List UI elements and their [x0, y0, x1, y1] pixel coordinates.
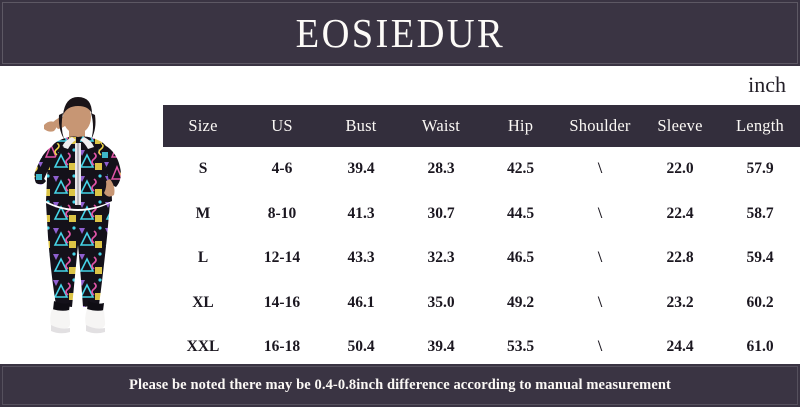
column-header-bust: Bust: [321, 105, 401, 147]
cell-sleeve: 22.0: [640, 147, 720, 192]
measurement-note-banner: Please be noted there may be 0.4-0.8inch…: [0, 362, 800, 407]
column-header-length: Length: [720, 105, 800, 147]
cell-size: XL: [163, 281, 243, 326]
cell-sleeve: 23.2: [640, 281, 720, 326]
cell-waist: 30.7: [401, 192, 481, 237]
cell-shoulder: \: [560, 236, 640, 281]
cell-sleeve: 22.8: [640, 236, 720, 281]
cell-waist: 35.0: [401, 281, 481, 326]
cell-size: M: [163, 192, 243, 237]
cell-shoulder: \: [560, 192, 640, 237]
column-header-hip: Hip: [481, 105, 560, 147]
cell-shoulder: \: [560, 281, 640, 326]
cell-us: 4-6: [243, 147, 321, 192]
measurement-note-text: Please be noted there may be 0.4-0.8inch…: [129, 377, 671, 394]
size-chart-page: EOSIEDUR inch: [0, 0, 800, 407]
table-row: S 4-6 39.4 28.3 42.5 \ 22.0 57.9: [163, 147, 800, 192]
cell-length: 59.4: [720, 236, 800, 281]
column-header-waist: Waist: [401, 105, 481, 147]
product-photo: [0, 95, 160, 345]
brand-banner: EOSIEDUR: [0, 0, 800, 68]
cell-waist: 32.3: [401, 236, 481, 281]
table-row: M 8-10 41.3 30.7 44.5 \ 22.4 58.7: [163, 192, 800, 237]
cell-length: 58.7: [720, 192, 800, 237]
table-header: Size US Bust Waist Hip Shoulder Sleeve L…: [163, 105, 800, 147]
cell-hip: 49.2: [481, 281, 560, 326]
cell-bust: 41.3: [321, 192, 401, 237]
size-chart-table: Size US Bust Waist Hip Shoulder Sleeve L…: [163, 105, 800, 370]
brand-title: EOSIEDUR: [295, 9, 504, 57]
table-row: XL 14-16 46.1 35.0 49.2 \ 23.2 60.2: [163, 281, 800, 326]
table-body: S 4-6 39.4 28.3 42.5 \ 22.0 57.9 M 8-10 …: [163, 147, 800, 370]
column-header-size: Size: [163, 105, 243, 147]
cell-us: 14-16: [243, 281, 321, 326]
column-header-us: US: [243, 105, 321, 147]
cell-hip: 44.5: [481, 192, 560, 237]
cell-sleeve: 22.4: [640, 192, 720, 237]
column-header-shoulder: Shoulder: [560, 105, 640, 147]
model-illustration: [0, 95, 160, 345]
column-header-sleeve: Sleeve: [640, 105, 720, 147]
cell-waist: 28.3: [401, 147, 481, 192]
cell-length: 60.2: [720, 281, 800, 326]
cell-us: 8-10: [243, 192, 321, 237]
cell-shoulder: \: [560, 147, 640, 192]
cell-hip: 46.5: [481, 236, 560, 281]
table-header-row: Size US Bust Waist Hip Shoulder Sleeve L…: [163, 105, 800, 147]
cell-bust: 46.1: [321, 281, 401, 326]
cell-bust: 43.3: [321, 236, 401, 281]
cell-us: 12-14: [243, 236, 321, 281]
cell-size: S: [163, 147, 243, 192]
unit-label: inch: [748, 72, 786, 98]
cell-length: 57.9: [720, 147, 800, 192]
cell-bust: 39.4: [321, 147, 401, 192]
cell-hip: 42.5: [481, 147, 560, 192]
cell-size: L: [163, 236, 243, 281]
table-row: L 12-14 43.3 32.3 46.5 \ 22.8 59.4: [163, 236, 800, 281]
